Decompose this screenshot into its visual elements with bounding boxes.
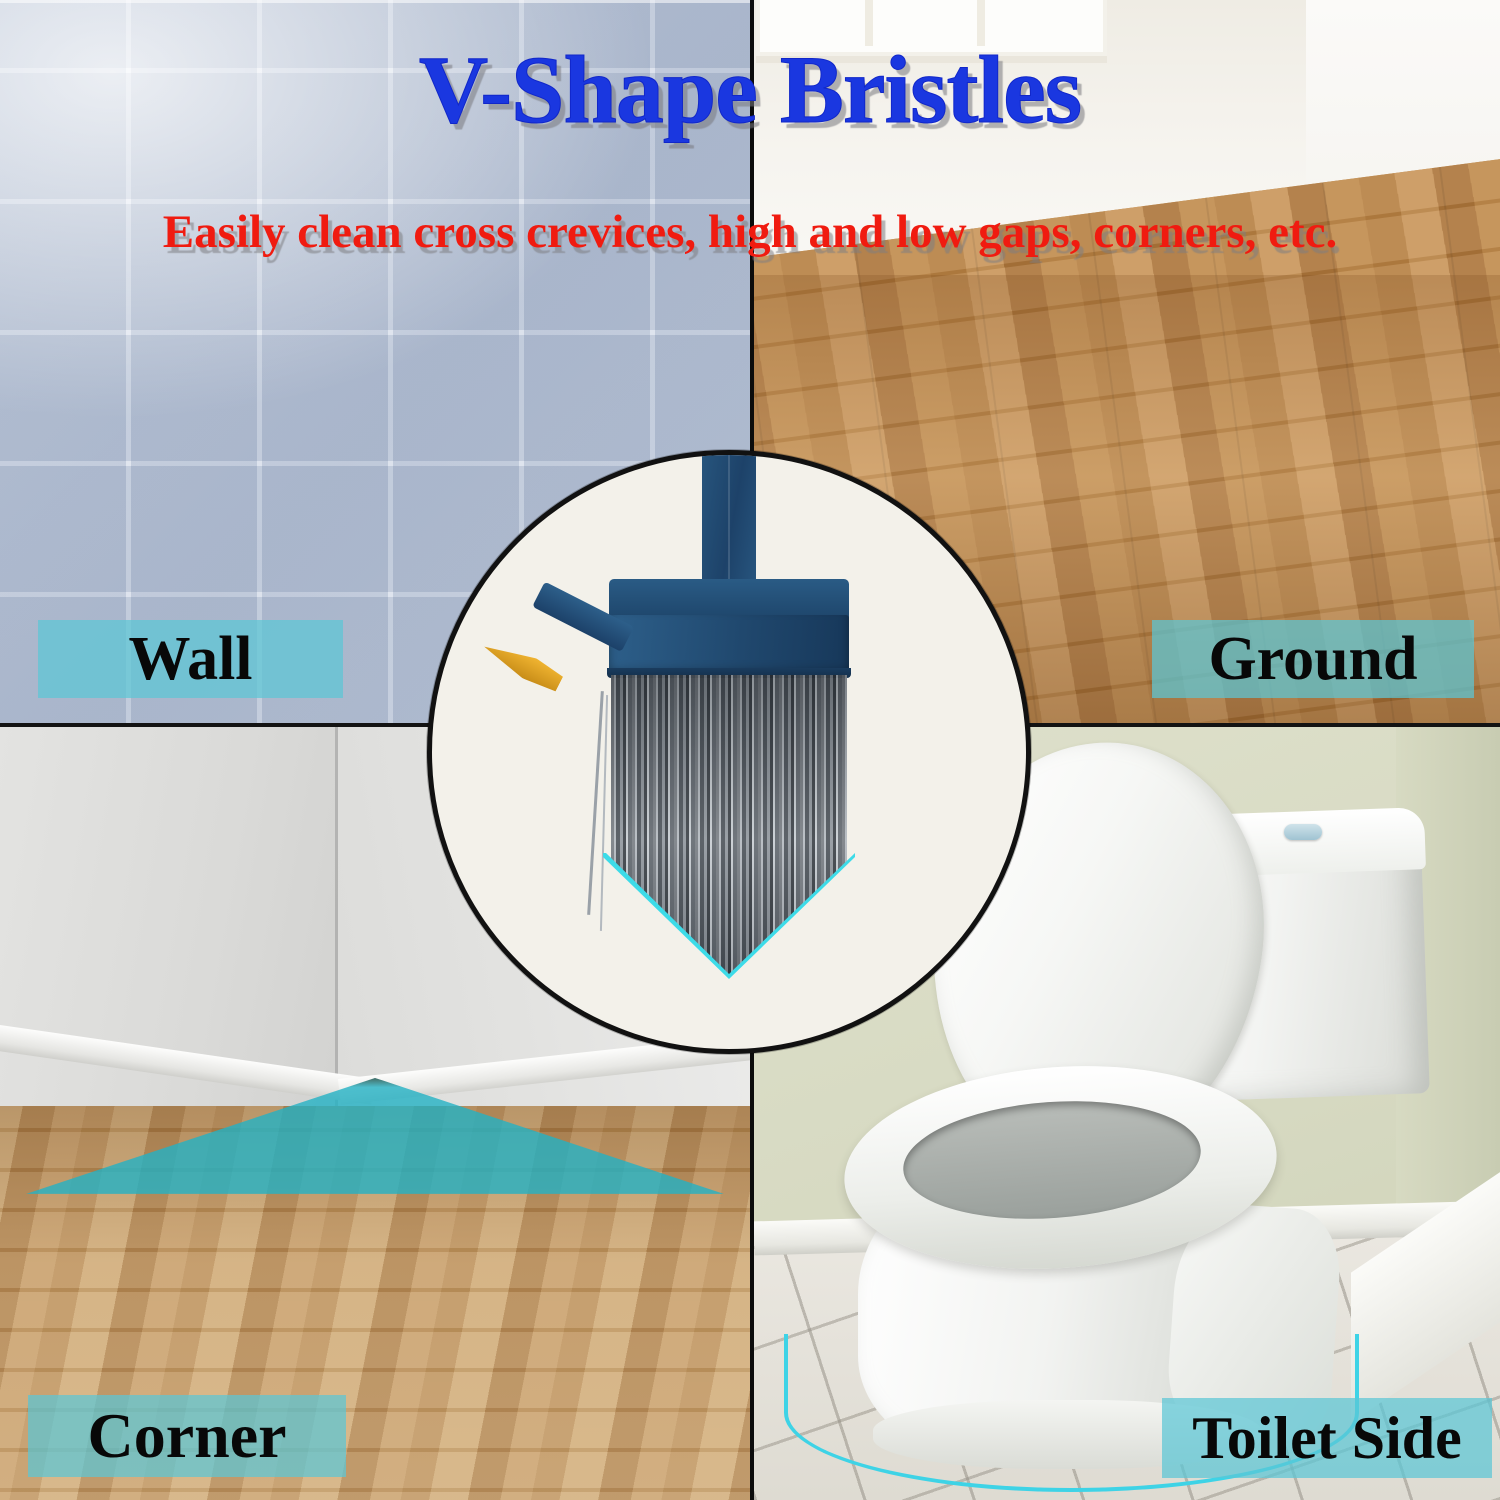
label-ground: Ground <box>1152 620 1474 698</box>
page-subtitle: Easily clean cross crevices, high and lo… <box>0 205 1500 259</box>
label-corner: Corner <box>28 1395 346 1477</box>
label-toilet-side: Toilet Side <box>1162 1398 1492 1478</box>
corner-seam <box>335 727 338 1129</box>
page-title: V-Shape Bristles <box>0 34 1500 145</box>
flush-button-icon <box>1284 824 1322 840</box>
bristle-shading <box>611 675 847 975</box>
product-feature-image: V-Shape Bristles Easily clean cross crev… <box>0 0 1500 1500</box>
scraper-tip-icon <box>479 635 565 695</box>
corner-wall-left <box>0 727 338 1160</box>
product-closeup-circle <box>427 450 1031 1054</box>
label-wall: Wall <box>38 620 343 698</box>
